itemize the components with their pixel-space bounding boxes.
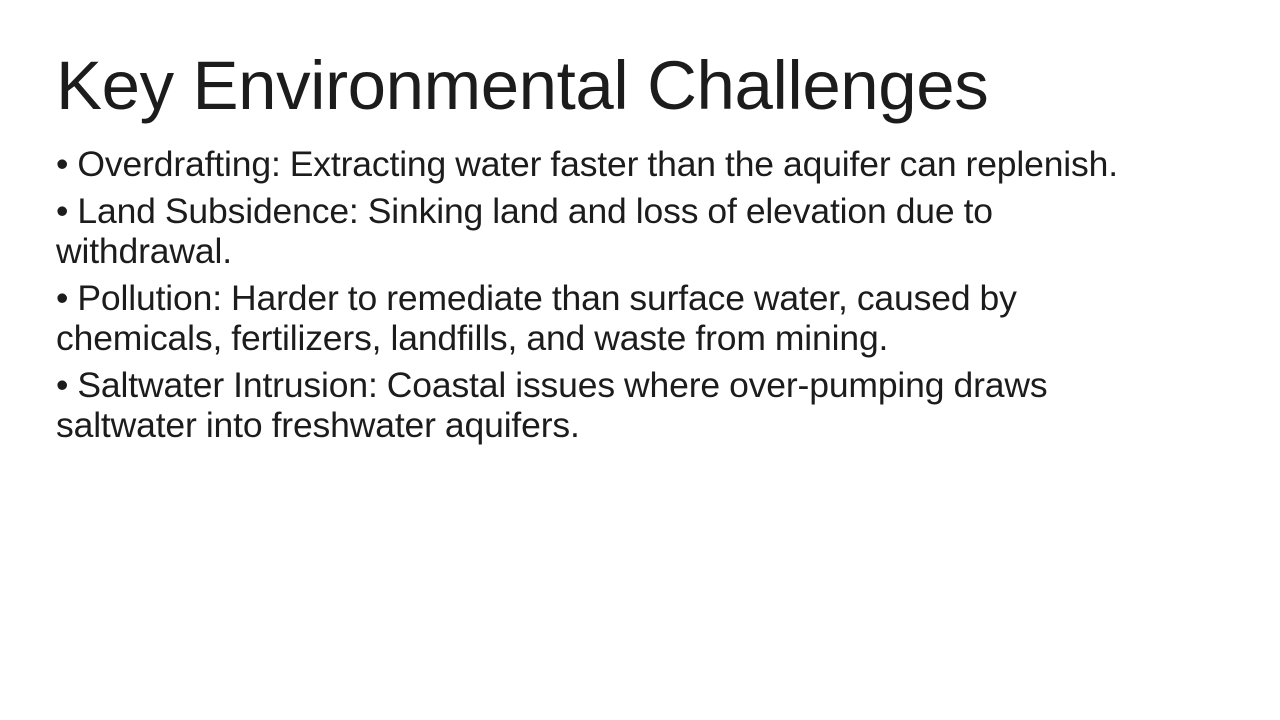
bullet-icon: • [56,144,68,184]
list-item: • Pollution: Harder to remediate than su… [56,278,1168,358]
slide-canvas: Key Environmental Challenges • Overdraft… [0,0,1280,720]
bullet-list: • Overdrafting: Extracting water faster … [56,144,1168,445]
bullet-icon: • [56,278,68,318]
page-title: Key Environmental Challenges [56,44,1224,128]
list-item: • Overdrafting: Extracting water faster … [56,144,1168,184]
bullet-icon: • [56,365,68,405]
list-item: • Land Subsidence: Sinking land and loss… [56,191,1168,271]
list-item-label: Pollution: Harder to remediate than surf… [56,278,1017,358]
title-block: Key Environmental Challenges [56,44,1224,128]
list-item-label: Overdrafting: Extracting water faster th… [77,144,1118,184]
list-item-label: Saltwater Intrusion: Coastal issues wher… [56,365,1047,445]
list-item: • Saltwater Intrusion: Coastal issues wh… [56,365,1168,445]
list-item-label: Land Subsidence: Sinking land and loss o… [56,191,993,271]
bullet-icon: • [56,191,68,231]
